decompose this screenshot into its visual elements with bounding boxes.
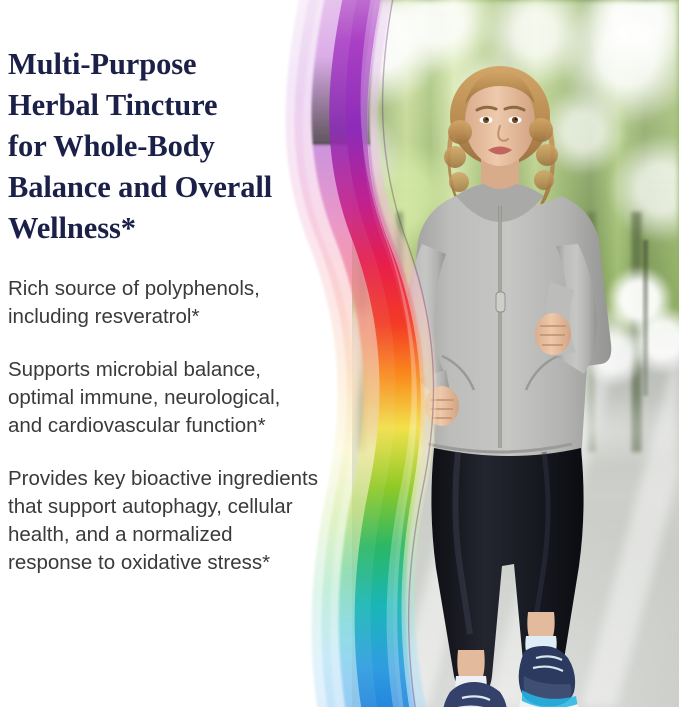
running-shoe-back [519, 646, 579, 707]
headline-line-1: Multi-Purpose [8, 47, 196, 81]
headline-line-5: Wellness* [8, 211, 136, 245]
running-shoe-front [443, 682, 509, 707]
benefit-item-bioactive-ingredients: Provides key bioactive ingredients that … [8, 465, 320, 577]
headline-line-4: Balance and Overall [8, 170, 272, 204]
text-column: Multi-Purpose Herbal Tincture for Whole-… [0, 0, 330, 707]
headline-line-3: for Whole-Body [8, 129, 215, 163]
runner-figure [338, 0, 679, 707]
benefit-item-microbial-balance: Supports microbial balance, optimal immu… [8, 356, 320, 440]
benefit-item-polyphenols: Rich source of polyphenols, including re… [8, 275, 320, 331]
product-benefits-panel: Multi-Purpose Herbal Tincture for Whole-… [0, 0, 679, 707]
jogger-photo [338, 0, 679, 707]
page-title: Multi-Purpose Herbal Tincture for Whole-… [8, 44, 320, 249]
headline-line-2: Herbal Tincture [8, 88, 217, 122]
